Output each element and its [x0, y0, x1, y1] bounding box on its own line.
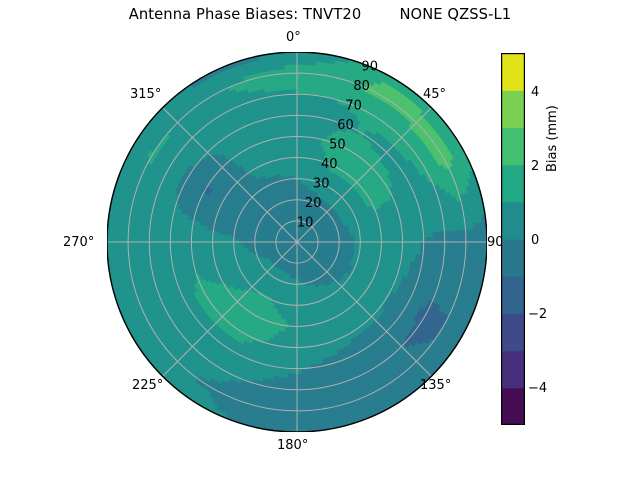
figure-title: Antenna Phase Biases: TNVT20 NONE QZSS-L…	[0, 6, 640, 23]
colorbar-band	[502, 388, 524, 425]
colorbar-band	[502, 90, 524, 128]
colorbar-band	[502, 276, 524, 314]
radial-tick-label-20: 20	[305, 196, 322, 211]
angular-tick-135: 135°	[420, 378, 451, 393]
colorbar-tick-neg4: −4	[528, 381, 547, 396]
colorbar-title: Bias (mm)	[545, 105, 560, 172]
colorbar-tick-2: 2	[531, 159, 539, 174]
colorbar-tick-0: 0	[531, 233, 539, 248]
radial-tick-label-30: 30	[313, 177, 330, 192]
colorbar-band	[502, 313, 524, 351]
colorbar-gradient	[501, 53, 525, 425]
figure-canvas: Antenna Phase Biases: TNVT20 NONE QZSS-L…	[0, 0, 640, 480]
colorbar-band	[502, 239, 524, 277]
radial-tick-label-10: 10	[297, 216, 314, 231]
angular-tick-0: 0°	[286, 30, 301, 45]
radial-tick-label-60: 60	[337, 118, 354, 133]
radial-tick-label-80: 80	[353, 79, 370, 94]
colorbar-tick-4: 4	[531, 85, 539, 100]
radial-tick-label-40: 40	[321, 157, 338, 172]
colorbar-band	[502, 127, 524, 165]
angular-tick-270: 270°	[63, 235, 94, 250]
angular-tick-180: 180°	[277, 438, 308, 453]
colorbar-band	[502, 202, 524, 240]
colorbar-tick-neg2: −2	[528, 307, 547, 322]
colorbar-band	[502, 53, 524, 91]
colorbar-band	[502, 351, 524, 389]
colorbar-band	[502, 165, 524, 203]
colorbar[interactable]	[501, 53, 525, 425]
angular-tick-315: 315°	[130, 87, 161, 102]
radial-tick-label-50: 50	[329, 138, 346, 153]
polar-grid	[107, 52, 487, 432]
radial-tick-label-70: 70	[345, 99, 362, 114]
polar-contour-svg: 102030405060708090	[107, 52, 487, 432]
radial-tick-label-90: 90	[361, 60, 378, 75]
angular-tick-225: 225°	[132, 378, 163, 393]
polar-plot: 102030405060708090	[107, 52, 487, 432]
angular-tick-45: 45°	[423, 87, 446, 102]
